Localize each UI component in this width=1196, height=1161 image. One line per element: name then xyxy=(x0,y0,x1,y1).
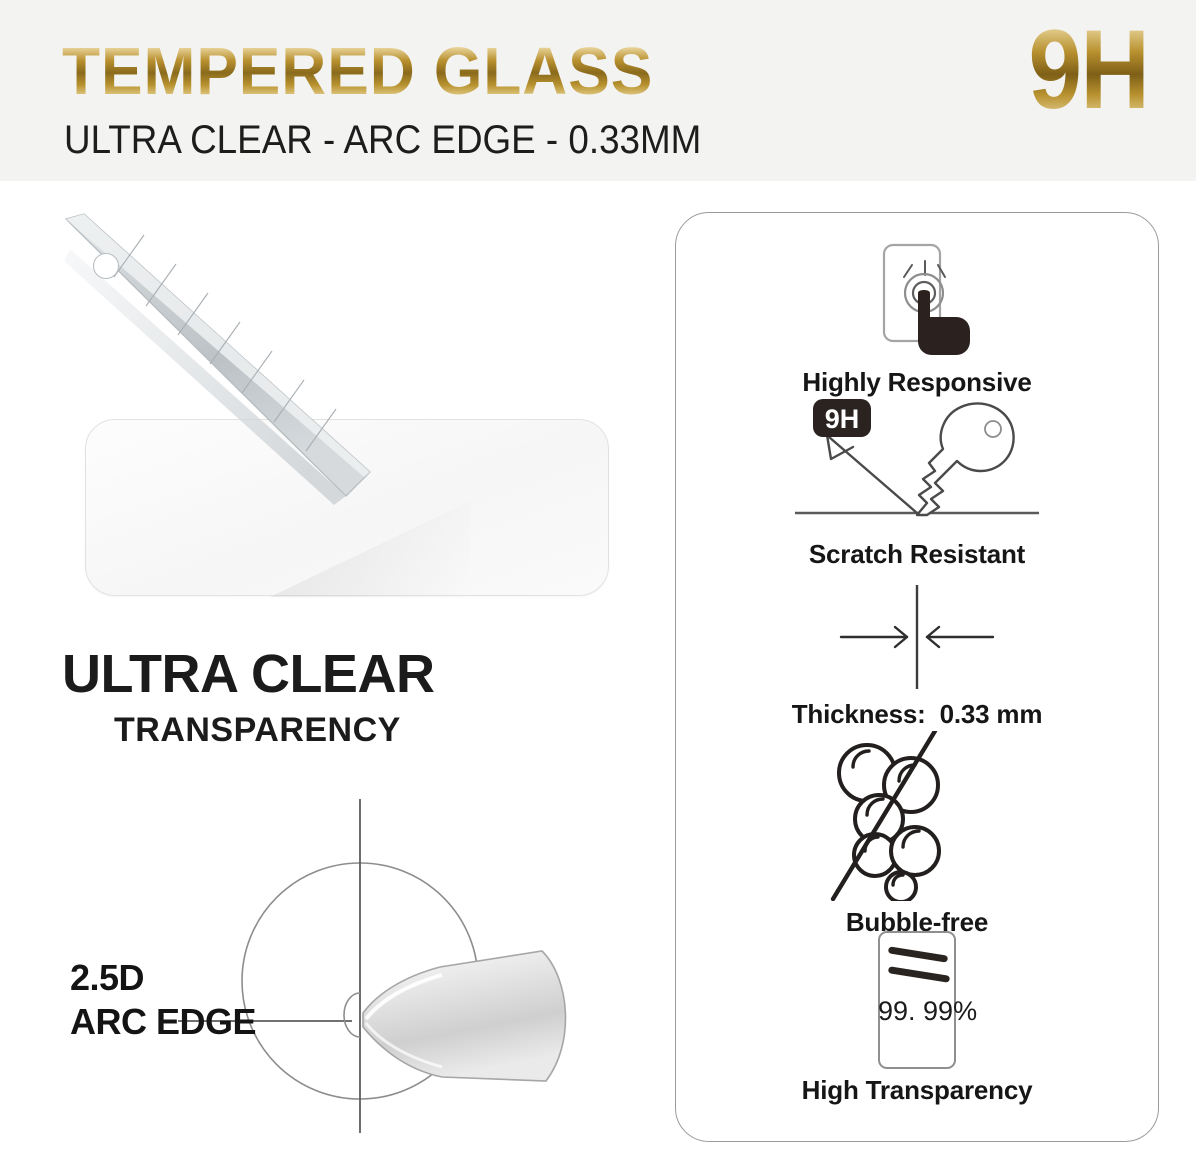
arc-edge-label-line2: ARC EDGE xyxy=(70,1001,256,1042)
feature-label: Scratch Resistant xyxy=(676,539,1158,570)
hardness-chip-9h: 9H xyxy=(813,399,871,437)
glare-stroke-top xyxy=(888,946,948,962)
feature-highly-responsive: Highly Responsive xyxy=(676,231,1158,398)
screen-outline: 99. 99% xyxy=(878,931,956,1069)
header-banner: TEMPERED GLASS ULTRA CLEAR - ARC EDGE - … xyxy=(0,0,1196,181)
feature-label: High Transparency xyxy=(676,1075,1158,1106)
transparency-percent: 99. 99% xyxy=(878,996,988,1027)
svg-text:9H: 9H xyxy=(825,404,860,434)
arc-edge-label: 2.5D ARC EDGE xyxy=(70,956,256,1044)
touch-phone-icon xyxy=(676,231,1158,361)
feature-thickness: Thickness:0.33 mm xyxy=(676,581,1158,730)
feature-bubble-free: Bubble-free xyxy=(676,731,1158,938)
hardness-badge-9h: 9H xyxy=(1028,14,1148,126)
feature-high-transparency: 99. 99% High Transparency xyxy=(676,931,1158,1106)
glare-stroke-bottom xyxy=(888,966,950,983)
utility-blade-icon xyxy=(58,209,408,539)
arc-edge-label-line1: 2.5D xyxy=(70,957,144,998)
page-subtitle: ULTRA CLEAR - ARC EDGE - 0.33MM xyxy=(64,118,701,163)
ultra-clear-headline: ULTRA CLEAR xyxy=(62,643,434,705)
page-title: TEMPERED GLASS xyxy=(62,38,653,105)
bubbles-crossed-icon xyxy=(676,731,1158,901)
key-scratch-icon: 9H xyxy=(676,391,1158,533)
header-text-block: TEMPERED GLASS ULTRA CLEAR - ARC EDGE - … xyxy=(62,22,1142,162)
transparency-subheadline: TRANSPARENCY xyxy=(114,711,401,750)
left-panel: ULTRA CLEAR TRANSPARENCY xyxy=(0,181,648,1161)
arc-edge-illustration: 2.5D ARC EDGE xyxy=(30,781,630,1141)
thickness-label-prefix: Thickness: xyxy=(792,699,926,729)
feature-scratch-resistant: 9H Scratch Resistant xyxy=(676,391,1158,570)
blade-on-glass-illustration xyxy=(30,201,630,621)
features-panel: Highly Responsive xyxy=(675,212,1159,1142)
infographic-page: TEMPERED GLASS ULTRA CLEAR - ARC EDGE - … xyxy=(0,0,1196,1161)
thickness-arrows-icon xyxy=(676,581,1158,693)
transparency-screen-icon: 99. 99% xyxy=(676,931,1158,1069)
thickness-label: Thickness:0.33 mm xyxy=(676,699,1158,730)
thickness-value: 0.33 mm xyxy=(940,699,1043,729)
